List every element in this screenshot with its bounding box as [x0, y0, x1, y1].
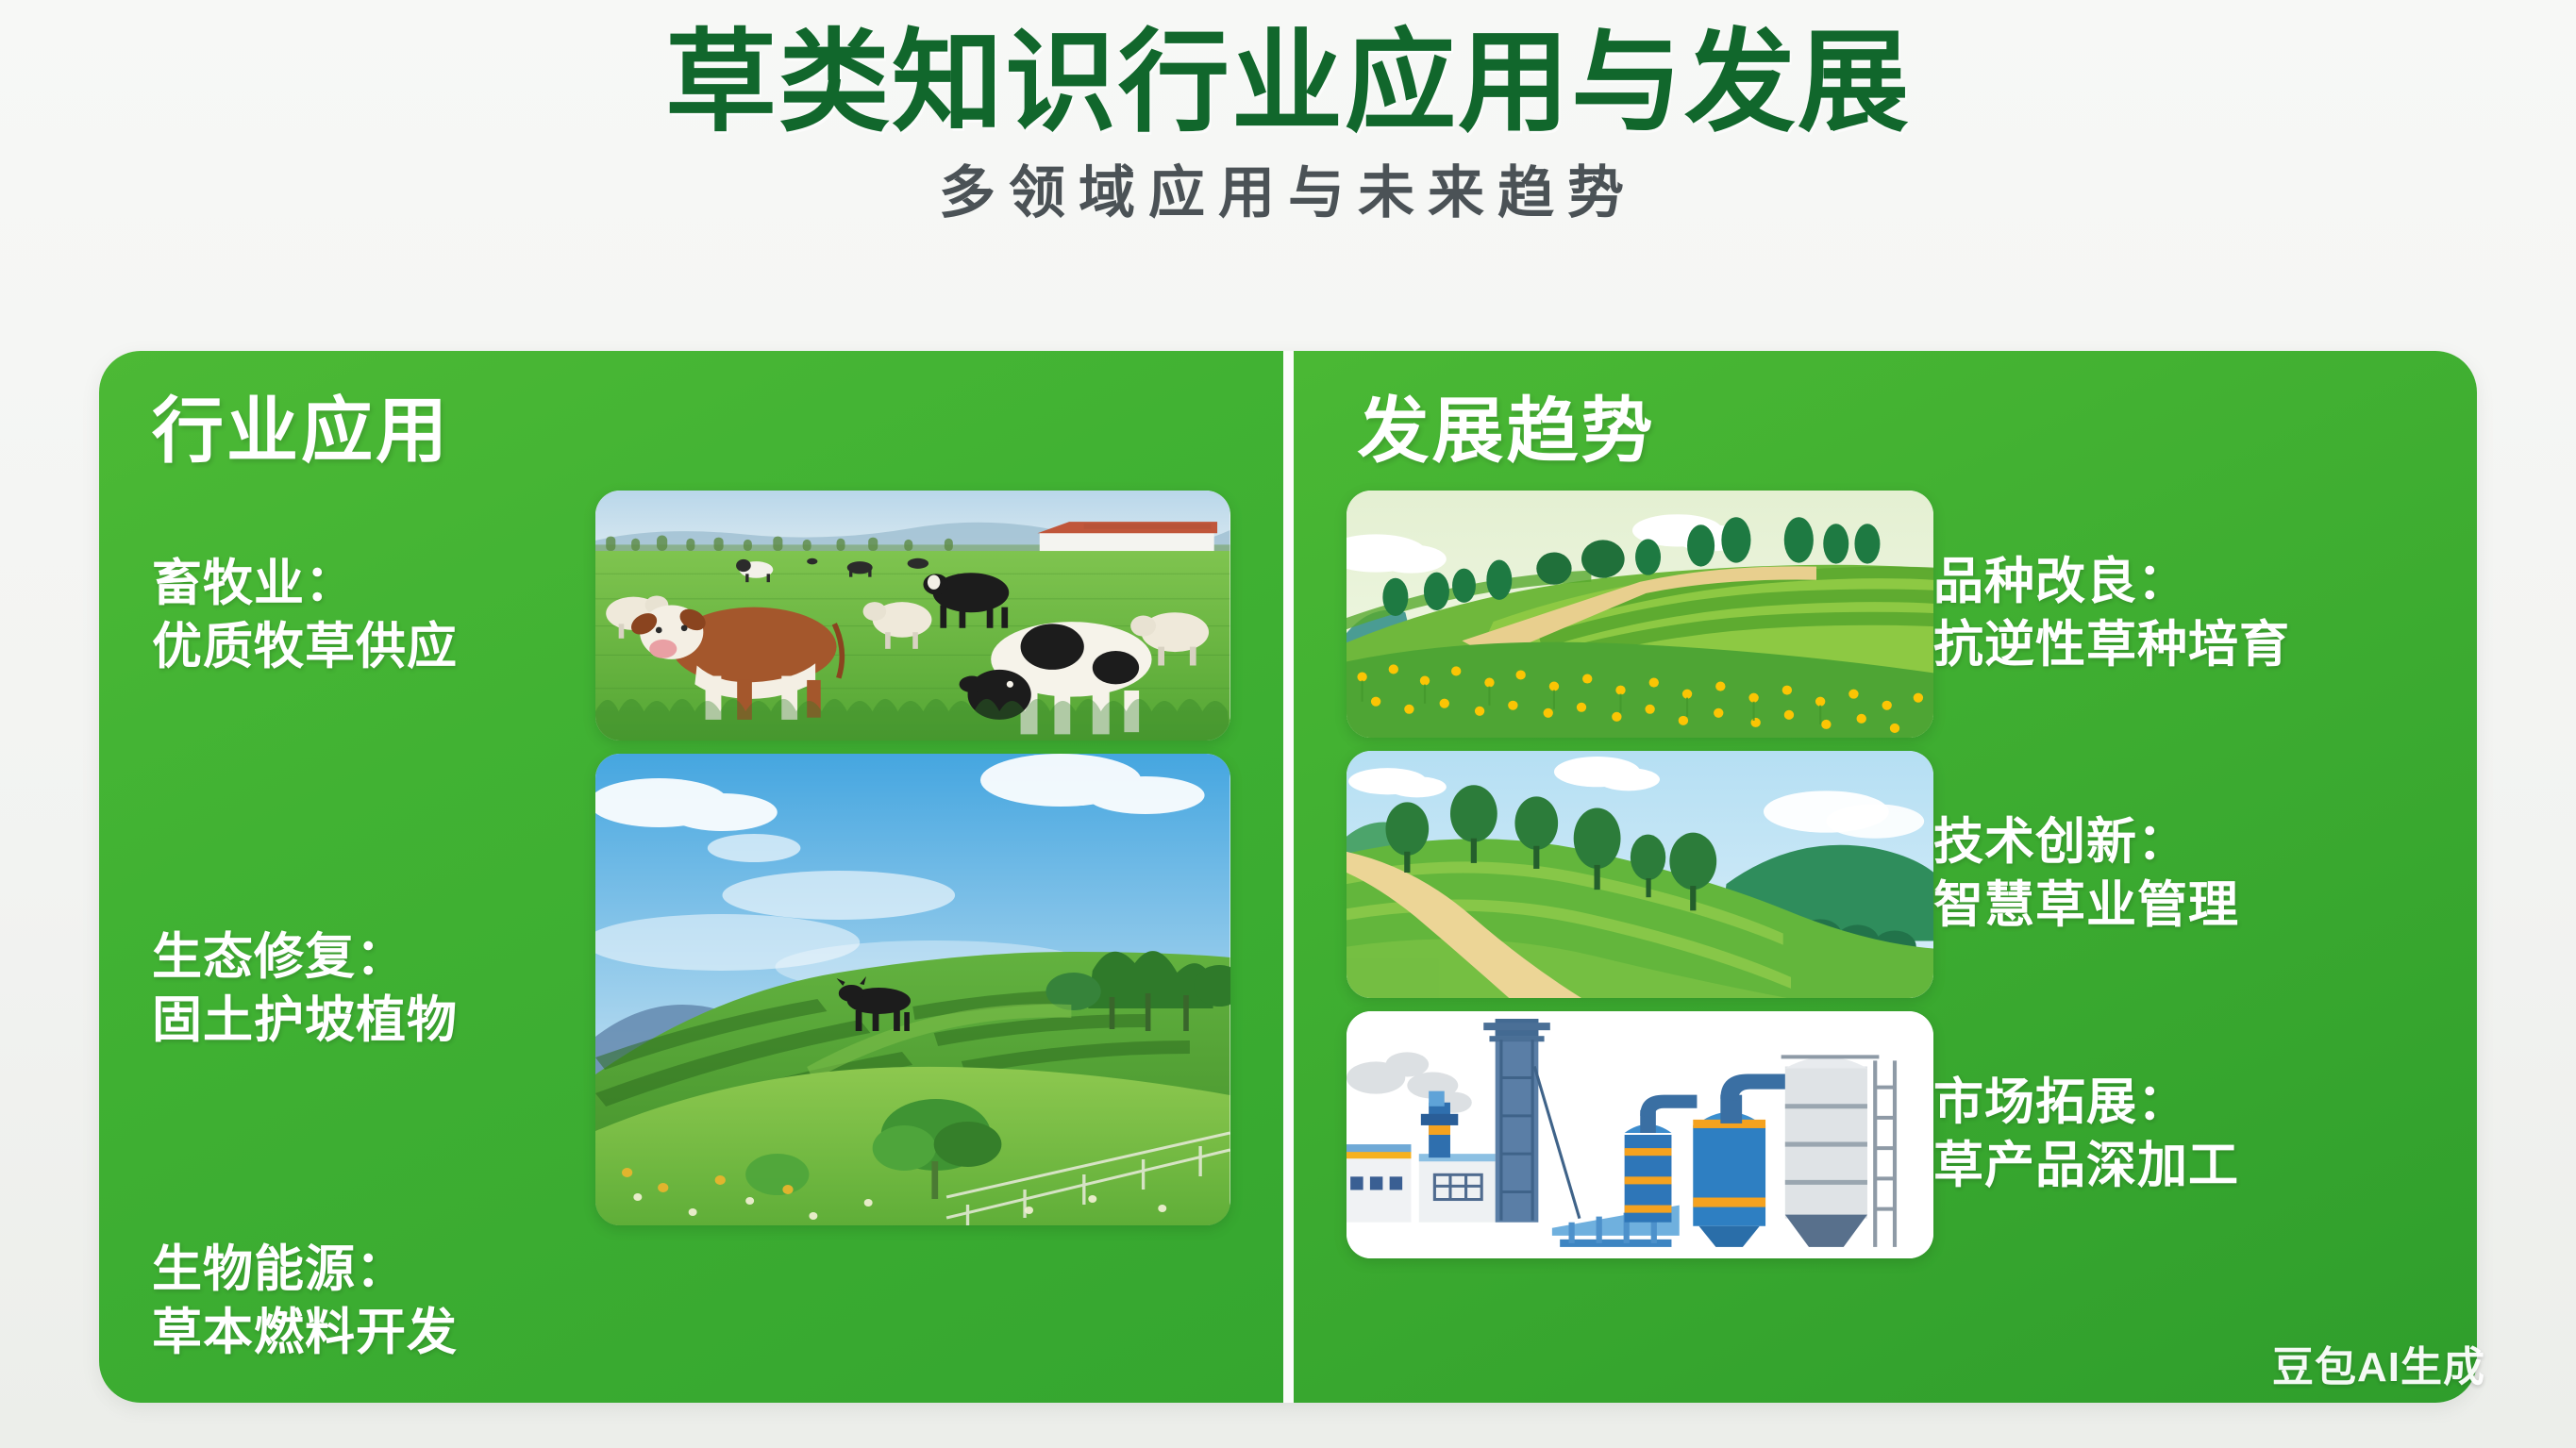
panel-title-development-trend: 发展趋势 [1347, 396, 2425, 468]
item-label: 生态修复： [152, 926, 595, 990]
list-item[interactable]: 技术创新： 智慧草业管理 [1347, 751, 2425, 998]
infographic-poster: 草类知识行业应用与发展 多领域应用与未来趋势 行业应用 畜牧业： 优质牧草供应 [0, 0, 2576, 1448]
item-label: 畜牧业： [152, 553, 595, 616]
terraced-green-hillside-photo [595, 754, 1230, 1225]
flat-illustration-rolling-hills-with-path [1347, 751, 1934, 998]
item-value: 固土护坡植物 [152, 990, 595, 1053]
content-board: 行业应用 畜牧业： 优质牧草供应 [99, 351, 2477, 1403]
list-item[interactable]: 生物能源： 草本燃料开发 [152, 1239, 1230, 1365]
panel-development-trend: 发展趋势 品种改良： 抗逆性草种培育 [1294, 351, 2478, 1403]
development-trend-rows: 品种改良： 抗逆性草种培育 [1347, 491, 2425, 1258]
item-text-market-expansion: 市场拓展： 草产品深加工 [1933, 1072, 2424, 1198]
item-text-bioenergy: 生物能源： 草本燃料开发 [152, 1239, 595, 1365]
list-item[interactable]: 生态修复： 固土护坡植物 [152, 754, 1230, 1225]
panel-divider [1283, 351, 1294, 1403]
list-item[interactable]: 市场拓展： 草产品深加工 [1347, 1011, 2425, 1258]
flat-illustration-fields-with-yellow-flowers [1347, 491, 1934, 738]
item-text-technology-innovation: 技术创新： 智慧草业管理 [1933, 811, 2424, 938]
item-value: 抗逆性草种培育 [1933, 614, 2424, 677]
panel-title-industry-application: 行业应用 [152, 396, 1230, 468]
item-value: 草产品深加工 [1933, 1135, 2424, 1198]
item-text-variety-improvement: 品种改良： 抗逆性草种培育 [1933, 551, 2424, 677]
item-value: 草本燃料开发 [152, 1302, 595, 1365]
page-subtitle: 多领域应用与未来趋势 [0, 162, 2576, 225]
watermark: 豆包AI生成 [2272, 1333, 2485, 1393]
item-label: 品种改良： [1933, 551, 2424, 614]
farm-buildings [1038, 522, 1218, 555]
pasture-with-grazing-cattle-photo [595, 491, 1230, 741]
item-text-livestock: 畜牧业： 优质牧草供应 [152, 553, 595, 679]
item-value: 智慧草业管理 [1933, 874, 2424, 938]
list-item[interactable]: 畜牧业： 优质牧草供应 [152, 491, 1230, 741]
item-label: 生物能源： [152, 1239, 595, 1302]
item-text-ecological-restoration: 生态修复： 固土护坡植物 [152, 926, 595, 1053]
industry-application-rows: 畜牧业： 优质牧草供应 [152, 491, 1230, 1365]
item-label: 市场拓展： [1933, 1072, 2424, 1135]
flat-illustration-processing-factory [1347, 1011, 1934, 1258]
item-label: 技术创新： [1933, 811, 2424, 874]
panel-industry-application: 行业应用 畜牧业： 优质牧草供应 [99, 351, 1283, 1403]
page-title: 草类知识行业应用与发展 [0, 21, 2576, 145]
poster-header: 草类知识行业应用与发展 多领域应用与未来趋势 [0, 21, 2576, 225]
item-value: 优质牧草供应 [152, 616, 595, 679]
list-item[interactable]: 品种改良： 抗逆性草种培育 [1347, 491, 2425, 738]
